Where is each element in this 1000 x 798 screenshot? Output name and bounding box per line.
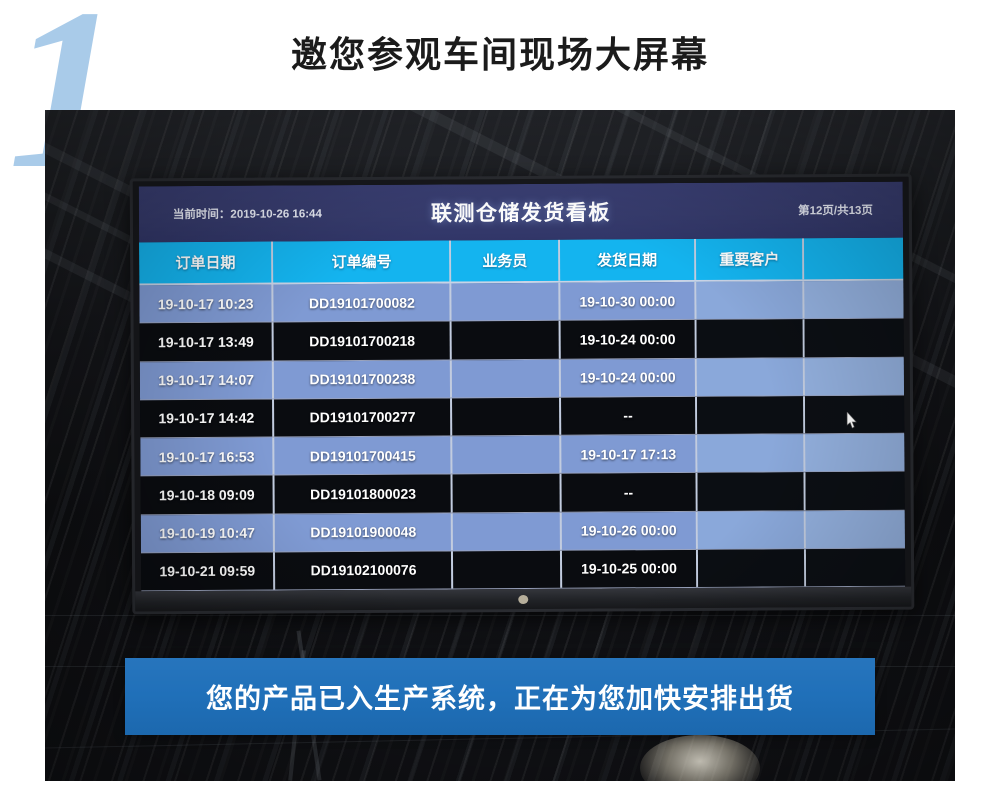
wall-mounted-tv: 当前时间：2019-10-26 16:44 联测仓储发货看板 第12页/共13页… (130, 174, 915, 615)
cell-order-date: 19-10-17 14:42 (140, 399, 275, 437)
shipment-table: 订单日期 订单编号 业务员 发货日期 重要客户 19-10-17 10:23 D… (139, 238, 905, 592)
dashboard-header: 当前时间：2019-10-26 16:44 联测仓储发货看板 第12页/共13页 (139, 182, 903, 243)
column-header-extra (804, 238, 903, 280)
tv-screen: 当前时间：2019-10-26 16:44 联测仓储发货看板 第12页/共13页… (139, 182, 905, 592)
table-header-row: 订单日期 订单编号 业务员 发货日期 重要客户 (139, 238, 903, 286)
cell-order-no: DD19101800023 (275, 475, 453, 513)
cell-extra (806, 434, 905, 472)
table-row: 19-10-18 09:09 DD19101800023 -- (140, 472, 904, 515)
cell-extra (805, 281, 904, 319)
cell-ship-date: 19-10-24 00:00 (560, 320, 696, 358)
cell-order-no: DD19101700218 (274, 322, 452, 360)
cell-ship-date: 19-10-30 00:00 (560, 282, 696, 320)
table-row: 19-10-21 09:59 DD19102100076 19-10-25 00… (141, 548, 905, 591)
table-row: 19-10-17 14:42 DD19101700277 -- (140, 395, 904, 438)
caption-banner-text: 您的产品已入生产系统，正在为您加快安排出货 (206, 677, 794, 716)
cell-key-customer (697, 358, 806, 396)
cell-order-date: 19-10-21 09:59 (141, 552, 276, 590)
cell-key-customer (696, 320, 805, 358)
cell-salesperson (453, 436, 562, 474)
column-header-order-no: 订单编号 (274, 240, 452, 282)
table-row: 19-10-17 10:23 DD19101700082 19-10-30 00… (139, 281, 903, 324)
column-header-key-customer: 重要客户 (696, 238, 805, 280)
cell-salesperson (453, 474, 562, 512)
cell-order-date: 19-10-17 16:53 (140, 438, 275, 476)
pagination-label: 第12页/共13页 (798, 202, 873, 218)
cell-key-customer (697, 473, 806, 511)
cell-salesperson (453, 551, 562, 589)
cell-ship-date: 19-10-25 00:00 (562, 550, 698, 588)
cell-order-no: DD19101700238 (274, 360, 452, 398)
cell-order-date: 19-10-17 13:49 (140, 323, 275, 361)
cell-extra (806, 472, 905, 510)
cell-salesperson (452, 283, 561, 321)
cell-order-date: 19-10-17 14:07 (140, 361, 275, 399)
cell-ship-date: -- (561, 473, 697, 511)
cell-key-customer (698, 549, 807, 587)
current-time-label: 当前时间：2019-10-26 16:44 (173, 205, 322, 222)
cell-ship-date: -- (561, 397, 697, 435)
cell-salesperson (452, 398, 561, 436)
cell-extra (805, 357, 904, 395)
cell-ship-date: 19-10-17 17:13 (561, 435, 697, 473)
cell-salesperson (452, 359, 561, 397)
cell-key-customer (696, 281, 805, 319)
column-header-order-date: 订单日期 (139, 242, 274, 284)
cell-extra (805, 319, 904, 357)
cell-salesperson (452, 321, 561, 359)
cell-order-no: DD19101900048 (275, 513, 453, 551)
cell-key-customer (697, 396, 806, 434)
cell-key-customer (697, 434, 806, 472)
page-title: 邀您参观车间现场大屏幕 (0, 26, 1000, 78)
cell-extra (805, 395, 904, 433)
table-row: 19-10-19 10:47 DD19101900048 19-10-26 00… (141, 510, 905, 553)
table-row: 19-10-17 13:49 DD19101700218 19-10-24 00… (140, 319, 904, 362)
cell-order-no: DD19101700082 (274, 283, 452, 321)
tv-power-led (518, 595, 528, 604)
cell-key-customer (698, 511, 807, 549)
column-header-salesperson: 业务员 (452, 240, 561, 282)
column-header-ship-date: 发货日期 (560, 239, 696, 281)
cell-order-no: DD19101700277 (274, 398, 452, 436)
table-row: 19-10-17 16:53 DD19101700415 19-10-17 17… (140, 434, 904, 477)
cell-extra (806, 548, 905, 586)
warehouse-dashboard: 当前时间：2019-10-26 16:44 联测仓储发货看板 第12页/共13页… (139, 182, 905, 592)
cell-ship-date: 19-10-24 00:00 (561, 358, 697, 396)
cell-ship-date: 19-10-26 00:00 (562, 511, 698, 549)
cell-salesperson (453, 512, 562, 550)
cell-order-date: 19-10-19 10:47 (141, 514, 276, 552)
cell-extra (806, 510, 905, 548)
cell-order-no: DD19102100076 (275, 551, 453, 589)
wall-line (45, 615, 955, 616)
cell-order-no: DD19101700415 (275, 436, 453, 474)
cell-order-date: 19-10-18 09:09 (140, 476, 275, 514)
table-row: 19-10-17 14:07 DD19101700238 19-10-24 00… (140, 357, 904, 400)
cell-order-date: 19-10-17 10:23 (139, 285, 274, 323)
tv-bottom-bezel (135, 587, 911, 612)
caption-banner: 您的产品已入生产系统，正在为您加快安排出货 (125, 658, 875, 735)
